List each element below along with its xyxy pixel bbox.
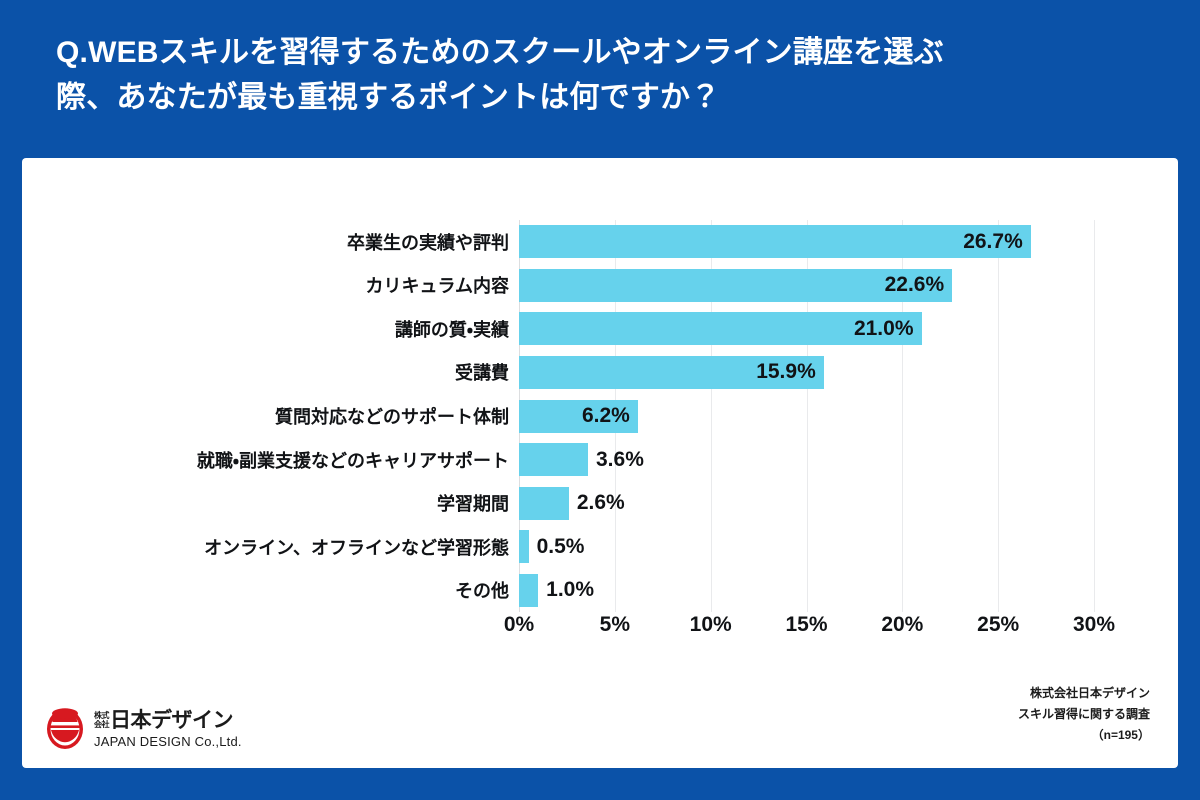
bar[interactable] — [519, 443, 588, 476]
bar-value-label: 0.5% — [537, 535, 585, 559]
gridline-30pct — [1094, 220, 1095, 612]
category-label: 卒業生の実績や評判 — [347, 229, 509, 255]
category-label: 受講費 — [455, 359, 509, 385]
bar[interactable] — [519, 530, 529, 563]
x-tick-label: 0% — [504, 613, 534, 637]
bar-rows: 卒業生の実績や評判26.7%カリキュラム内容22.6%講師の質・実績21.0%受… — [519, 220, 1094, 612]
bar-value-label: 3.6% — [596, 448, 644, 472]
bar-value-label: 1.0% — [546, 578, 594, 602]
credit-line-survey: スキル習得に関する調査 — [1018, 704, 1150, 725]
company-logo: 株式 会社 日本デザイン JAPAN DESIGN Co.,Ltd. — [44, 708, 242, 750]
logo-company-name-en: JAPAN DESIGN Co.,Ltd. — [94, 735, 242, 748]
bar-chart: 卒業生の実績や評判26.7%カリキュラム内容22.6%講師の質・実績21.0%受… — [22, 158, 1178, 658]
logo-kabushikigaisha: 株式 会社 — [94, 712, 109, 731]
header-banner: Q.WEBスキルを習得するためのスクールやオンライン講座を選ぶ 際、あなたが最も… — [0, 0, 1200, 158]
x-tick-label: 5% — [600, 613, 630, 637]
category-label: その他 — [455, 577, 509, 603]
bar-row: 受講費15.9% — [519, 356, 1094, 389]
card-footer: 株式 会社 日本デザイン JAPAN DESIGN Co.,Ltd. 株式会社日… — [22, 658, 1178, 768]
category-label: 質問対応などのサポート体制 — [275, 403, 509, 429]
logo-kk-line2: 会社 — [94, 721, 109, 729]
category-label: 学習期間 — [437, 490, 509, 516]
bar[interactable] — [519, 574, 538, 607]
x-axis: 0%5%10%15%20%25%30% — [519, 613, 1094, 643]
category-label: 就職・副業支援などのキャリアサポート — [197, 447, 509, 473]
bar-row: 卒業生の実績や評判26.7% — [519, 225, 1094, 258]
category-label: 講師の質・実績 — [395, 316, 509, 342]
bar-value-label: 6.2% — [582, 404, 630, 428]
japan-design-logo-icon — [44, 708, 86, 750]
credit-line-company: 株式会社日本デザイン — [1018, 683, 1150, 704]
page-title: Q.WEBスキルを習得するためのスクールやオンライン講座を選ぶ 際、あなたが最も… — [56, 30, 1144, 120]
bar-row: 講師の質・実績21.0% — [519, 312, 1094, 345]
category-label: オンライン、オフラインなど学習形態 — [204, 534, 509, 560]
x-tick-label: 20% — [881, 613, 923, 637]
bar-value-label: 15.9% — [756, 360, 816, 384]
bar-value-label: 22.6% — [885, 273, 945, 297]
bar-value-label: 26.7% — [963, 230, 1023, 254]
category-label: カリキュラム内容 — [366, 272, 509, 298]
logo-company-name-ja: 日本デザイン — [110, 710, 233, 731]
x-tick-label: 15% — [785, 613, 827, 637]
x-tick-label: 30% — [1073, 613, 1115, 637]
bar-value-label: 21.0% — [854, 317, 914, 341]
x-tick-label: 10% — [690, 613, 732, 637]
source-credit: 株式会社日本デザイン スキル習得に関する調査 （n=195） — [1018, 683, 1150, 746]
x-tick-label: 25% — [977, 613, 1019, 637]
credit-line-sample-size: （n=195） — [1018, 725, 1150, 746]
bar-row: 質問対応などのサポート体制6.2% — [519, 400, 1094, 433]
bar-value-label: 2.6% — [577, 491, 625, 515]
bar-row: オンライン、オフラインなど学習形態0.5% — [519, 530, 1094, 563]
bar-row: 就職・副業支援などのキャリアサポート3.6% — [519, 443, 1094, 476]
chart-card: 卒業生の実績や評判26.7%カリキュラム内容22.6%講師の質・実績21.0%受… — [22, 158, 1178, 768]
logo-text: 株式 会社 日本デザイン JAPAN DESIGN Co.,Ltd. — [94, 710, 242, 748]
plot-area: 卒業生の実績や評判26.7%カリキュラム内容22.6%講師の質・実績21.0%受… — [519, 220, 1094, 612]
bar[interactable] — [519, 487, 569, 520]
bar-row: カリキュラム内容22.6% — [519, 269, 1094, 302]
bar[interactable] — [519, 225, 1031, 258]
bar-row: 学習期間2.6% — [519, 487, 1094, 520]
bar-row: その他1.0% — [519, 574, 1094, 607]
